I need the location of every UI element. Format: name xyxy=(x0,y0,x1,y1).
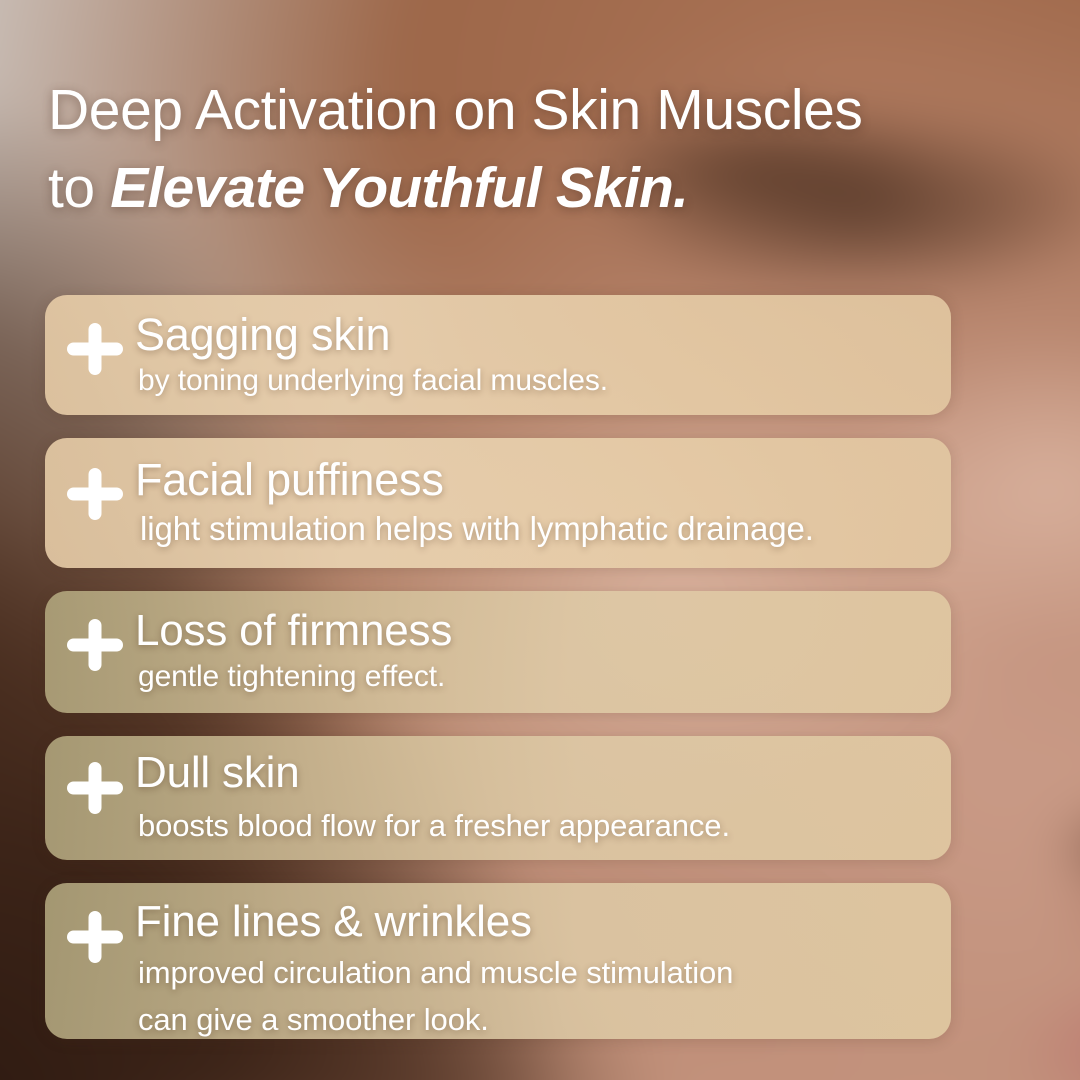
benefit-title: Loss of firmness xyxy=(135,605,951,657)
card-text-block: Fine lines & wrinkles improved circulati… xyxy=(135,883,951,1039)
benefit-subtitle: improved circulation and muscle stimulat… xyxy=(138,949,951,1039)
card-content: Facial puffiness light stimulation helps… xyxy=(45,438,951,551)
plus-icon xyxy=(63,462,127,526)
benefit-card-facial-puffiness[interactable]: Facial puffiness light stimulation helps… xyxy=(45,438,951,568)
benefit-subtitle-line: can give a smoother look. xyxy=(138,996,951,1039)
headline-line-2-prefix: to xyxy=(48,156,110,220)
benefit-subtitle-line: light stimulation helps with lymphatic d… xyxy=(140,507,951,551)
benefit-title: Facial puffiness xyxy=(135,453,951,507)
plus-icon xyxy=(63,905,127,969)
card-text-block: Loss of firmness gentle tightening effec… xyxy=(135,591,951,697)
benefit-subtitle: by toning underlying facial muscles. xyxy=(138,361,951,401)
card-text-block: Dull skin boosts blood flow for a freshe… xyxy=(135,736,951,852)
benefit-subtitle-line: boosts blood flow for a fresher appearan… xyxy=(138,800,951,852)
benefit-list: Sagging skin by toning underlying facial… xyxy=(45,295,951,1039)
headline-block: Deep Activation on Skin Muscles to Eleva… xyxy=(48,78,1038,220)
plus-icon xyxy=(63,756,127,820)
benefit-subtitle: light stimulation helps with lymphatic d… xyxy=(140,507,951,551)
card-text-block: Facial puffiness light stimulation helps… xyxy=(135,438,951,551)
card-content: Sagging skin by toning underlying facial… xyxy=(45,295,951,401)
card-content: Dull skin boosts blood flow for a freshe… xyxy=(45,736,951,852)
benefit-subtitle-line: by toning underlying facial muscles. xyxy=(138,361,951,401)
benefit-subtitle-line: improved circulation and muscle stimulat… xyxy=(138,949,951,996)
benefit-card-fine-lines-wrinkles[interactable]: Fine lines & wrinkles improved circulati… xyxy=(45,883,951,1039)
plus-icon xyxy=(63,613,127,677)
card-content: Loss of firmness gentle tightening effec… xyxy=(45,591,951,697)
benefit-title: Dull skin xyxy=(135,746,951,800)
benefit-title: Sagging skin xyxy=(135,309,951,361)
headline-line-2: to Elevate Youthful Skin. xyxy=(48,156,1038,220)
card-text-block: Sagging skin by toning underlying facial… xyxy=(135,295,951,401)
benefit-subtitle-line: gentle tightening effect. xyxy=(138,657,951,697)
benefit-subtitle: gentle tightening effect. xyxy=(138,657,951,697)
benefit-card-dull-skin[interactable]: Dull skin boosts blood flow for a freshe… xyxy=(45,736,951,860)
plus-icon xyxy=(63,317,127,381)
benefit-card-sagging-skin[interactable]: Sagging skin by toning underlying facial… xyxy=(45,295,951,415)
card-content: Fine lines & wrinkles improved circulati… xyxy=(45,883,951,1039)
benefit-card-loss-of-firmness[interactable]: Loss of firmness gentle tightening effec… xyxy=(45,591,951,713)
headline-emphasis: Elevate Youthful Skin. xyxy=(110,156,688,220)
benefit-subtitle: boosts blood flow for a fresher appearan… xyxy=(138,800,951,852)
benefit-title: Fine lines & wrinkles xyxy=(135,895,951,949)
headline-line-1: Deep Activation on Skin Muscles xyxy=(48,78,1038,142)
